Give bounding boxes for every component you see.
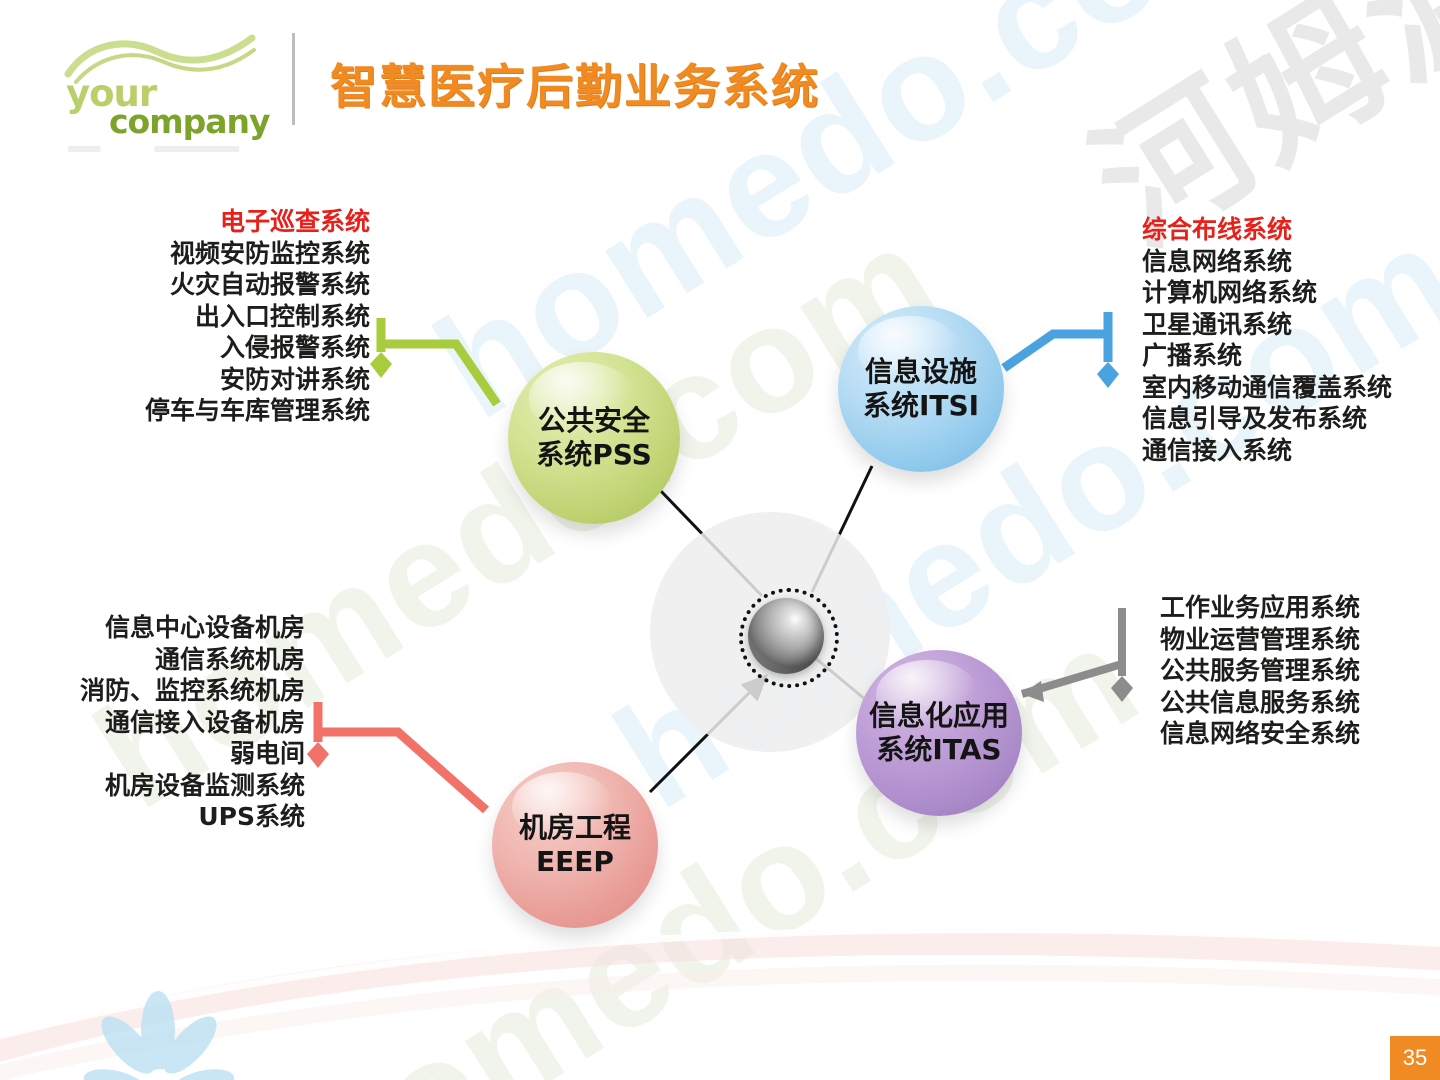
list-equipment-room: 信息中心设备机房 通信系统机房 消防、监控系统机房 通信接入设备机房 弱电间 机… (80, 612, 305, 833)
list-itsi-item-5: 信息引导及发布系统 (1142, 403, 1392, 435)
list-eeep-item-3: 通信接入设备机房 (80, 707, 305, 739)
node-pss-label: 公共安全 系统PSS (536, 404, 652, 472)
connector-pss (381, 318, 497, 404)
list-info-application: 工作业务应用系统 物业运营管理系统 公共服务管理系统 公共信息服务系统 信息网络… (1160, 592, 1360, 750)
list-info-facility: 综合布线系统 信息网络系统 计算机网络系统 卫星通讯系统 广播系统 室内移动通信… (1142, 214, 1392, 466)
list-pss-item-5: 停车与车库管理系统 (145, 395, 370, 427)
node-info-application-itas[interactable]: 信息化应用 系统ITAS (856, 650, 1022, 816)
list-itas-item-1: 物业运营管理系统 (1160, 624, 1360, 656)
node-itsi-label: 信息设施 系统ITSI (863, 355, 979, 423)
list-pss-item-3: 入侵报警系统 (145, 332, 370, 364)
list-itsi-item-0: 信息网络系统 (1142, 246, 1392, 278)
list-eeep-item-6: UPS系统 (80, 801, 305, 833)
list-eeep-item-2: 消防、监控系统机房 (80, 675, 305, 707)
list-itas-item-3: 公共信息服务系统 (1160, 687, 1360, 719)
slide-canvas: homedo.com homedo.com homedo.com homedo.… (0, 0, 1440, 1080)
list-itsi-item-1: 计算机网络系统 (1142, 277, 1392, 309)
list-pss-heading: 电子巡查系统 (145, 206, 370, 238)
list-itsi-item-4: 室内移动通信覆盖系统 (1142, 372, 1392, 404)
list-itas-item-4: 信息网络安全系统 (1160, 718, 1360, 750)
list-itsi-item-2: 卫星通讯系统 (1142, 309, 1392, 341)
list-public-security: 电子巡查系统 视频安防监控系统 火灾自动报警系统 出入口控制系统 入侵报警系统 … (145, 206, 370, 427)
list-pss-item-4: 安防对讲系统 (145, 364, 370, 396)
list-pss-item-2: 出入口控制系统 (145, 301, 370, 333)
list-itas-item-0: 工作业务应用系统 (1160, 592, 1360, 624)
node-public-security-pss[interactable]: 公共安全 系统PSS (508, 352, 680, 524)
connector-itsi (1004, 312, 1108, 368)
list-pss-item-1: 火灾自动报警系统 (145, 269, 370, 301)
list-eeep-item-0: 信息中心设备机房 (80, 612, 305, 644)
list-itsi-heading: 综合布线系统 (1142, 214, 1392, 246)
node-eeep-label: 机房工程 EEEP (519, 811, 631, 879)
node-itas-label: 信息化应用 系统ITAS (869, 699, 1009, 767)
hub-metal-sphere[interactable] (748, 598, 824, 674)
connector-eeep (318, 702, 486, 810)
connector-itas (1022, 608, 1122, 694)
page-number-badge: 35 (1390, 1036, 1440, 1080)
connector-pss-arrowhead (370, 352, 392, 378)
connector-itas-arrowhead-down (1111, 676, 1133, 702)
list-eeep-item-5: 机房设备监测系统 (80, 770, 305, 802)
list-eeep-item-1: 通信系统机房 (80, 644, 305, 676)
connector-eeep-arrowhead (307, 742, 329, 768)
node-equipment-room-eeep[interactable]: 机房工程 EEEP (492, 762, 658, 928)
node-info-facility-itsi[interactable]: 信息设施 系统ITSI (838, 306, 1004, 472)
list-itsi-item-6: 通信接入系统 (1142, 435, 1392, 467)
connector-itsi-arrowhead (1097, 362, 1119, 388)
list-pss-item-0: 视频安防监控系统 (145, 238, 370, 270)
list-itas-item-2: 公共服务管理系统 (1160, 655, 1360, 687)
list-eeep-item-4: 弱电间 (80, 738, 305, 770)
list-itsi-item-3: 广播系统 (1142, 340, 1392, 372)
